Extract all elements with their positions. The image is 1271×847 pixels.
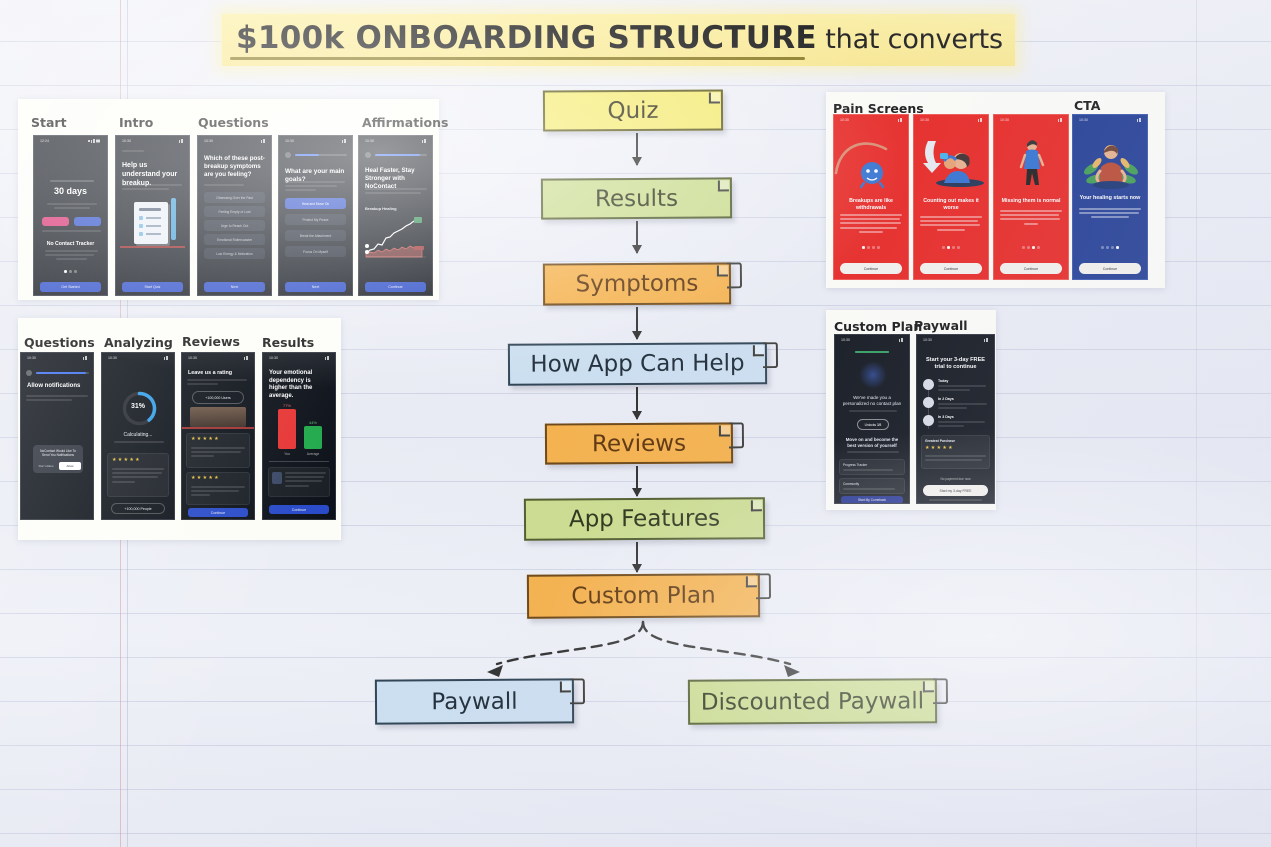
branch-connectors <box>0 0 1271 847</box>
flow-node-label: Discounted Paywall <box>701 688 924 715</box>
flow-node-paywall[interactable]: Paywall <box>375 678 574 724</box>
folded-corner-icon <box>933 678 948 704</box>
flow-node-label: Paywall <box>431 688 517 715</box>
flow-node-discounted-paywall[interactable]: Discounted Paywall <box>688 678 937 725</box>
folded-corner-notch-icon <box>560 681 571 692</box>
folded-corner-icon <box>570 678 585 704</box>
folded-corner-notch-icon <box>923 681 934 692</box>
whiteboard-canvas: $100k ONBOARDING STRUCTURE that converts… <box>0 0 1271 847</box>
